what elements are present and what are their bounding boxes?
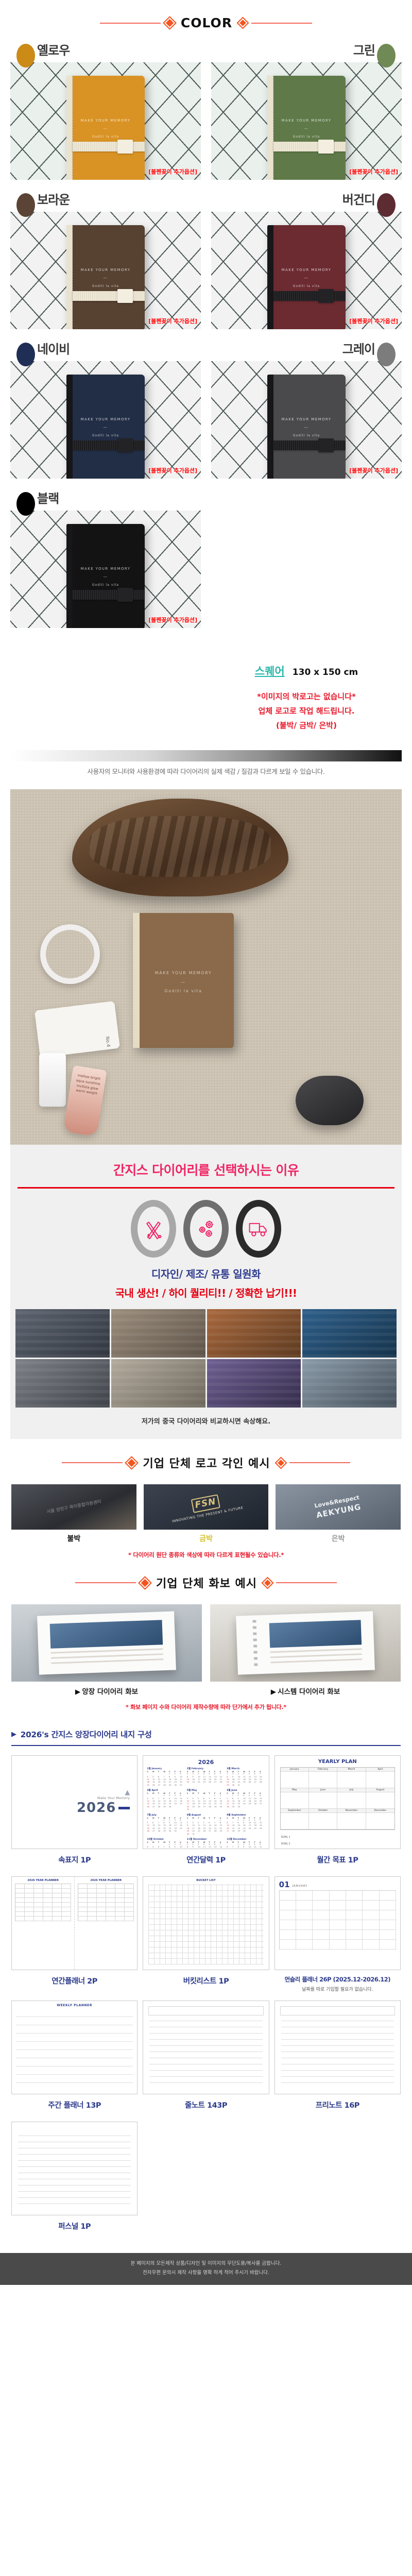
month-day-cell[interactable] bbox=[330, 1930, 346, 1940]
month-day-cell[interactable] bbox=[330, 1920, 346, 1930]
rule-right bbox=[276, 1582, 337, 1583]
brochure-section-header: 기업 단체 화보 예시 bbox=[0, 1559, 412, 1602]
color-cell[interactable]: 그린MAKE YOUR MEMORY—Goditi la vita[볼펜꽂이 추… bbox=[211, 45, 402, 180]
two-page-spread: 2026 YEAR PLANNER2026 YEAR PLANNER bbox=[12, 1877, 137, 1970]
planner-cell[interactable] bbox=[34, 1907, 43, 1912]
inner-page-preview[interactable]: YEARLY PLANJanuaryFebruaryMarchAprilMayJ… bbox=[274, 1755, 401, 1849]
planner-cell[interactable] bbox=[106, 1889, 115, 1893]
planner-cell[interactable] bbox=[53, 1907, 62, 1912]
reasons-section: 간지스 다이어리를 선택하시는 이유 bbox=[10, 1145, 402, 1439]
month-day-cell[interactable] bbox=[330, 1910, 346, 1920]
ruled-lines[interactable] bbox=[149, 2019, 262, 2089]
month-day-cell[interactable] bbox=[280, 1901, 296, 1910]
planner-cell[interactable] bbox=[62, 1889, 71, 1893]
product-detail-page: COLOR 옐로우MAKE YOUR MEMORY—Goditi la vita… bbox=[0, 0, 412, 2285]
color-name: 버건디 bbox=[342, 193, 375, 207]
month-day-cell[interactable] bbox=[330, 1901, 346, 1910]
month-day-cell[interactable] bbox=[296, 1920, 313, 1930]
planner-cell[interactable] bbox=[43, 1907, 53, 1912]
month-day-cell[interactable] bbox=[330, 1940, 346, 1950]
month-day-cell[interactable] bbox=[313, 1930, 329, 1940]
planner-cell[interactable] bbox=[78, 1907, 88, 1912]
inner-page-preview[interactable]: 01JANUARY bbox=[274, 1876, 401, 1970]
color-swatch bbox=[377, 193, 396, 217]
brochure-line bbox=[50, 1648, 163, 1654]
planner-cell[interactable] bbox=[53, 1917, 62, 1921]
planner-cell[interactable] bbox=[25, 1917, 34, 1921]
month-day-cell[interactable] bbox=[363, 1940, 379, 1950]
mini-days: 1234567891011121314151617181920212223242… bbox=[147, 1843, 185, 1849]
mini-month: 2월 FebruarySMTWTFS1234567891011121314151… bbox=[187, 1767, 225, 1787]
inner-page-preview[interactable] bbox=[143, 2001, 269, 2094]
logo-section-header: 기업 단체 로고 각인 예시 bbox=[0, 1439, 412, 1482]
planner-cell[interactable] bbox=[15, 1907, 25, 1912]
footer-line-1: 본 페이지의 모든제작 상품/디자인 및 이미지의 무단도용/복사를 금합니다. bbox=[0, 2259, 412, 2268]
week-row[interactable] bbox=[16, 2058, 133, 2066]
planner-cell[interactable] bbox=[78, 1889, 88, 1893]
planner-cell[interactable] bbox=[15, 1912, 25, 1917]
brochure-sheet bbox=[37, 1612, 176, 1675]
planner-cell[interactable] bbox=[78, 1917, 88, 1921]
white-pouch-object: No.4 bbox=[35, 1001, 120, 1058]
planner-cell[interactable] bbox=[106, 1903, 115, 1907]
planner-cell[interactable] bbox=[43, 1893, 53, 1898]
planner-cell[interactable] bbox=[78, 1903, 88, 1907]
planner-cell[interactable] bbox=[53, 1898, 62, 1903]
inner-page-caption: 연간플래너 2P bbox=[11, 1970, 138, 1994]
diary-cover: MAKE YOUR MEMORY—Goditi la vita bbox=[66, 524, 145, 628]
brochure-line bbox=[51, 1653, 163, 1659]
color-name: 그레이 bbox=[342, 343, 375, 356]
planner-cell[interactable] bbox=[34, 1912, 43, 1917]
planner-cell[interactable] bbox=[15, 1917, 25, 1921]
band-buckle bbox=[318, 438, 334, 452]
diary-cover: MAKE YOUR MEMORY—Goditi la vita bbox=[267, 76, 346, 180]
brochure-photo-bound bbox=[11, 1604, 202, 1682]
planner-cell[interactable] bbox=[88, 1903, 97, 1907]
month-day-cell[interactable] bbox=[296, 1940, 313, 1950]
mini-days: 1234567891011121314151617181920212223242… bbox=[147, 1794, 185, 1808]
month-day-cell[interactable] bbox=[280, 1910, 296, 1920]
planner-cell[interactable] bbox=[43, 1898, 53, 1903]
factory-photo-strip bbox=[10, 1309, 402, 1408]
month-day-cell[interactable] bbox=[363, 1930, 379, 1940]
rule-left bbox=[100, 23, 161, 24]
pen-holder-option-badge: [볼펜꽂이 추가옵션] bbox=[148, 167, 197, 176]
spec-square-label: 스퀘어 bbox=[255, 665, 285, 677]
inner-page-caption: 연간달력 1P bbox=[143, 1849, 269, 1873]
color-photo[interactable]: MAKE YOUR MEMORY—Goditi la vita[볼펜꽂이 추가옵… bbox=[10, 212, 201, 329]
diamond-left-icon bbox=[164, 18, 175, 28]
mini-month: 1월 JanuarySMTWTFS12345678910111213141516… bbox=[147, 1767, 185, 1787]
month-day-cell[interactable] bbox=[346, 1910, 363, 1920]
inner-page-preview[interactable]: BUCKET LIST bbox=[143, 1876, 269, 1970]
band-buckle bbox=[318, 140, 334, 154]
month-day-cell[interactable] bbox=[346, 1930, 363, 1940]
planner-cell[interactable] bbox=[125, 1889, 134, 1893]
brochure-line bbox=[51, 1659, 163, 1665]
yearplan-month-cell[interactable]: July bbox=[337, 1788, 366, 1809]
planner-cell[interactable] bbox=[53, 1889, 62, 1893]
color-cell[interactable]: 블랙MAKE YOUR MEMORY—Goditi la vita[볼펜꽂이 추… bbox=[10, 493, 201, 628]
week-row[interactable] bbox=[16, 2025, 133, 2033]
logo-mark-text: 서울 양천구 목아종합자원센터 bbox=[46, 1499, 101, 1514]
planner-cell[interactable] bbox=[62, 1912, 71, 1917]
week-row[interactable] bbox=[16, 2075, 133, 2083]
planner-cell[interactable] bbox=[125, 1884, 134, 1889]
yearplan-month-cell[interactable]: February bbox=[309, 1768, 337, 1788]
planner-cell[interactable] bbox=[43, 1912, 53, 1917]
month-day-cell[interactable] bbox=[296, 1901, 313, 1910]
yearplan-month-cell[interactable]: June bbox=[309, 1788, 337, 1809]
month-day-cell[interactable] bbox=[296, 1891, 313, 1901]
color-photo[interactable]: MAKE YOUR MEMORY—Goditi la vita[볼펜꽂이 추가옵… bbox=[10, 62, 201, 180]
inner-page-card: WEEKLY PLANNER주간 플래너 13P bbox=[11, 2001, 138, 2119]
reasons-icon-row bbox=[10, 1189, 402, 1261]
week-row[interactable] bbox=[16, 2050, 133, 2058]
month-day-cell[interactable] bbox=[380, 1920, 396, 1930]
planner-cell[interactable] bbox=[78, 1898, 88, 1903]
planner-cell[interactable] bbox=[43, 1903, 53, 1907]
yearplan-month-cell[interactable]: November bbox=[337, 1809, 366, 1829]
inner-page-preview[interactable] bbox=[274, 2001, 401, 2094]
planner-cell[interactable] bbox=[106, 1917, 115, 1921]
color-cell[interactable]: 버건디MAKE YOUR MEMORY—Goditi la vita[볼펜꽂이 … bbox=[211, 194, 402, 329]
color-section-header: COLOR bbox=[0, 0, 412, 42]
planner-cell[interactable] bbox=[15, 1884, 25, 1889]
inner-page-card: 2026 YEAR PLANNER2026 YEAR PLANNER연간플래너 … bbox=[11, 1876, 138, 1997]
planner-cell[interactable] bbox=[97, 1884, 106, 1889]
planner-cell[interactable] bbox=[106, 1898, 115, 1903]
planner-cell[interactable] bbox=[62, 1898, 71, 1903]
month-day-cell[interactable] bbox=[380, 1940, 396, 1950]
planner-cell[interactable] bbox=[62, 1907, 71, 1912]
planner-cell[interactable] bbox=[15, 1893, 25, 1898]
logo-sample-card: FSN INNOVATING THE PRESENT & FUTURE 금박 bbox=[144, 1484, 269, 1544]
yearplan-month-cell[interactable]: May bbox=[281, 1788, 309, 1809]
mini-days: 1234567891011121314151617181920212223242… bbox=[227, 1773, 265, 1787]
month-day-cell[interactable] bbox=[280, 1891, 296, 1901]
inner-page-preview[interactable]: 2026 YEAR PLANNER2026 YEAR PLANNER bbox=[11, 1876, 138, 1970]
planner-cell[interactable] bbox=[62, 1884, 71, 1889]
planner-cell[interactable] bbox=[125, 1903, 134, 1907]
month-day-cell[interactable] bbox=[280, 1920, 296, 1930]
planner-cell[interactable] bbox=[34, 1898, 43, 1903]
spec-note-3: (불박/ 금박/ 은박) bbox=[211, 719, 402, 733]
band-buckle bbox=[117, 588, 133, 602]
month-day-cell[interactable] bbox=[296, 1930, 313, 1940]
color-label-row: 옐로우 bbox=[10, 45, 201, 62]
planner-cell[interactable] bbox=[53, 1903, 62, 1907]
planner-cell[interactable] bbox=[106, 1893, 115, 1898]
inner-page-card: BUCKET LIST버킷리스트 1P bbox=[143, 1876, 269, 1997]
month-day-cell[interactable] bbox=[363, 1891, 379, 1901]
planner-cell[interactable] bbox=[88, 1889, 97, 1893]
mini-month: 8월 AugustSMTWTFS123456789101112131415161… bbox=[187, 1814, 225, 1836]
planner-cell[interactable] bbox=[88, 1893, 97, 1898]
color-swatch bbox=[16, 492, 35, 516]
inner-page-preview[interactable] bbox=[11, 2122, 138, 2215]
planner-cell[interactable] bbox=[34, 1917, 43, 1921]
planner-cell[interactable] bbox=[53, 1912, 62, 1917]
planner-cell[interactable] bbox=[88, 1898, 97, 1903]
diamond-left-icon bbox=[126, 1458, 137, 1468]
planner-cell[interactable] bbox=[115, 1893, 125, 1898]
month-day-cell[interactable] bbox=[280, 1930, 296, 1940]
factory-photo bbox=[207, 1309, 301, 1358]
planner-cell[interactable] bbox=[125, 1898, 134, 1903]
brochure-caption-bound: ▶앙장 다이어리 화보 bbox=[11, 1682, 202, 1696]
planner-cell[interactable] bbox=[25, 1889, 34, 1893]
logo-photo-silver-foil: Love&Respect AEKYUNG bbox=[276, 1484, 401, 1530]
reasons-line-1: 디자인/ 제조/ 유통 일원화 bbox=[10, 1261, 402, 1284]
planner-cell[interactable] bbox=[43, 1917, 53, 1921]
yearplan-month-label: September bbox=[281, 1809, 308, 1813]
week-row[interactable] bbox=[16, 2017, 133, 2025]
planner-cell[interactable] bbox=[62, 1903, 71, 1907]
inner-page-card: 프리노트 16P bbox=[274, 2001, 401, 2119]
color-cell[interactable]: 옐로우MAKE YOUR MEMORY—Goditi la vita[볼펜꽂이 … bbox=[10, 45, 201, 180]
month-number: 01 bbox=[279, 1880, 290, 1889]
planner-cell[interactable] bbox=[115, 1889, 125, 1893]
planner-cell[interactable] bbox=[125, 1907, 134, 1912]
brochure-section-title: 기업 단체 화보 예시 bbox=[154, 1574, 259, 1591]
planner-cell[interactable] bbox=[88, 1912, 97, 1917]
month-day-cell[interactable] bbox=[363, 1901, 379, 1910]
color-cell[interactable]: 네이비MAKE YOUR MEMORY—Goditi la vita[볼펜꽂이 … bbox=[10, 344, 201, 479]
personal-lines[interactable] bbox=[18, 2131, 131, 2210]
week-row[interactable] bbox=[16, 2033, 133, 2042]
planner-cell[interactable] bbox=[115, 1907, 125, 1912]
logo-sample-card: Love&Respect AEKYUNG 은박 bbox=[276, 1484, 401, 1544]
brochure-line bbox=[270, 1659, 362, 1664]
month-day-cell[interactable] bbox=[363, 1920, 379, 1930]
planner-cell[interactable] bbox=[78, 1893, 88, 1898]
yearplan-month-cell[interactable]: January bbox=[281, 1768, 309, 1788]
pen-holder-option-badge: [볼펜꽂이 추가옵션] bbox=[148, 616, 197, 624]
color-photo[interactable]: MAKE YOUR MEMORY—Goditi la vita[볼펜꽂이 추가옵… bbox=[211, 212, 402, 329]
planner-cell[interactable] bbox=[25, 1893, 34, 1898]
yearplan-month-cell[interactable]: October bbox=[309, 1809, 337, 1829]
month-day-cell[interactable] bbox=[313, 1910, 329, 1920]
cover-emboss: MAKE YOUR MEMORY—Goditi la vita bbox=[66, 117, 145, 141]
note-title-box[interactable] bbox=[148, 2006, 263, 2015]
diamond-left-icon bbox=[140, 1578, 150, 1588]
planner-cell[interactable] bbox=[62, 1917, 71, 1921]
inner-page-preview[interactable]: 20261월 JanuarySMTWTFS1234567891011121314… bbox=[143, 1755, 269, 1849]
inner-page-preview[interactable]: ▲Make Your Memory2026 bbox=[11, 1755, 138, 1849]
goal-2: GOAL 2 bbox=[281, 1841, 394, 1848]
week-row[interactable] bbox=[16, 2009, 133, 2017]
week-row[interactable] bbox=[16, 2066, 133, 2075]
planner-cell[interactable] bbox=[88, 1884, 97, 1889]
white-bottle-object bbox=[39, 1053, 66, 1107]
planner-cell[interactable] bbox=[115, 1898, 125, 1903]
planner-cell[interactable] bbox=[53, 1893, 62, 1898]
planner-cell[interactable] bbox=[43, 1889, 53, 1893]
planner-cell[interactable] bbox=[15, 1898, 25, 1903]
month-day-cell[interactable] bbox=[330, 1891, 346, 1901]
planner-cell[interactable] bbox=[115, 1917, 125, 1921]
planner-cell[interactable] bbox=[25, 1903, 34, 1907]
month-day-cell[interactable] bbox=[313, 1901, 329, 1910]
planner-cell[interactable] bbox=[43, 1884, 53, 1889]
rule-right bbox=[251, 23, 312, 24]
yearcal-grid: 1월 JanuarySMTWTFS12345678910111213141516… bbox=[143, 1767, 268, 1849]
planner-cell[interactable] bbox=[34, 1884, 43, 1889]
planner-cell[interactable] bbox=[25, 1912, 34, 1917]
inner-pages-header: ▶ 2026's 간지스 앙장다이어리 내지 구성 bbox=[0, 1711, 412, 1742]
planner-cell[interactable] bbox=[34, 1889, 43, 1893]
factory-photo bbox=[15, 1359, 110, 1408]
yearplanner-title: 2026 YEAR PLANNER bbox=[75, 1877, 137, 1884]
diary-product-object: MAKE YOUR MEMORY — Goditi la vita bbox=[133, 913, 234, 1048]
yearplan-grid: JanuaryFebruaryMarchAprilMayJuneJulyAugu… bbox=[280, 1767, 395, 1830]
color-name: 옐로우 bbox=[37, 44, 70, 57]
yearplan-month-label: October bbox=[309, 1809, 337, 1813]
yearplan-goals: GOAL 1GOAL 2 bbox=[275, 1830, 400, 1848]
yearplan-month-cell[interactable]: April bbox=[366, 1768, 394, 1788]
earphone-cable-object bbox=[40, 924, 100, 984]
planner-table bbox=[15, 1884, 71, 1921]
mini-month-label: 4월 April bbox=[147, 1789, 185, 1792]
planner-cell[interactable] bbox=[97, 1917, 106, 1921]
planner-cell[interactable] bbox=[125, 1893, 134, 1898]
yearplan-month-cell[interactable]: August bbox=[366, 1788, 394, 1809]
planner-cell[interactable] bbox=[78, 1884, 88, 1889]
monitor-disclaimer: 사용자의 모니터와 사용환경에 따라 다이어리의 실제 색감 / 질감과 다르게… bbox=[0, 761, 412, 776]
mini-month-label: 3월 March bbox=[227, 1767, 265, 1770]
color-cell[interactable]: 보라운MAKE YOUR MEMORY—Goditi la vita[볼펜꽂이 … bbox=[10, 194, 201, 329]
pen-holder-option-badge: [볼펜꽂이 추가옵션] bbox=[349, 317, 398, 325]
weekly-title: WEEKLY PLANNER bbox=[12, 2001, 137, 2009]
planner-cell[interactable] bbox=[88, 1907, 97, 1912]
yearplan-month-label: January bbox=[281, 1768, 308, 1772]
inner-page-caption: 퍼스널 1P bbox=[11, 2215, 138, 2240]
color-photo[interactable]: MAKE YOUR MEMORY—Goditi la vita[볼펜꽂이 추가옵… bbox=[10, 361, 201, 479]
mini-days: 1234567891011121314151617181920212223242… bbox=[147, 1819, 185, 1833]
week-row[interactable] bbox=[16, 2042, 133, 2050]
planner-cell[interactable] bbox=[97, 1903, 106, 1907]
month-day-cell[interactable] bbox=[346, 1920, 363, 1930]
planner-cell[interactable] bbox=[97, 1912, 106, 1917]
month-day-cell[interactable] bbox=[363, 1910, 379, 1920]
planner-cell[interactable] bbox=[115, 1912, 125, 1917]
planner-cell[interactable] bbox=[25, 1907, 34, 1912]
mini-month: 6월 JuneSMTWTFS12345678910111213141516171… bbox=[227, 1789, 265, 1811]
ruled-lines[interactable] bbox=[281, 2019, 394, 2089]
color-cell[interactable]: 그레이MAKE YOUR MEMORY—Goditi la vita[볼펜꽂이 … bbox=[211, 344, 402, 479]
mini-month-label: 10월 October bbox=[147, 1838, 185, 1841]
color-photo[interactable]: MAKE YOUR MEMORY—Goditi la vita[볼펜꽂이 추가옵… bbox=[211, 62, 402, 180]
planner-cell[interactable] bbox=[125, 1917, 134, 1921]
planner-cell[interactable] bbox=[25, 1884, 34, 1889]
month-day-cell[interactable] bbox=[346, 1940, 363, 1950]
month-day-cell[interactable] bbox=[313, 1920, 329, 1930]
month-day-cell[interactable] bbox=[380, 1910, 396, 1920]
planner-cell[interactable] bbox=[106, 1912, 115, 1917]
earbud-case-object bbox=[296, 1076, 364, 1125]
color-name: 네이비 bbox=[37, 343, 70, 356]
gradient-divider bbox=[10, 750, 402, 761]
color-swatch bbox=[16, 343, 35, 366]
planner-cell[interactable] bbox=[97, 1889, 106, 1893]
month-day-cell[interactable] bbox=[380, 1891, 396, 1901]
planner-cell[interactable] bbox=[62, 1893, 71, 1898]
planner-cell[interactable] bbox=[125, 1912, 134, 1917]
pen-holder-option-badge: [볼펜꽂이 추가옵션] bbox=[148, 317, 197, 325]
inner-page-preview[interactable]: WEEKLY PLANNER bbox=[11, 2001, 138, 2094]
month-day-cell[interactable] bbox=[380, 1930, 396, 1940]
yearplan-title: YEARLY PLAN bbox=[275, 1756, 400, 1767]
reasons-footnote: 저가의 중국 다이어리와 비교하시면 속상해요. bbox=[10, 1408, 402, 1439]
planner-cell[interactable] bbox=[53, 1884, 62, 1889]
planner-cell[interactable] bbox=[34, 1893, 43, 1898]
factory-photo bbox=[111, 1309, 205, 1358]
planner-cell[interactable] bbox=[78, 1912, 88, 1917]
mini-month: 10월 OctoberSMTWTFS1234567891011121314151… bbox=[147, 1838, 185, 1849]
month-day-cell[interactable] bbox=[280, 1940, 296, 1950]
diamond-right-icon bbox=[238, 18, 247, 27]
brochure-card: ▶앙장 다이어리 화보 bbox=[11, 1604, 202, 1696]
diamond-right-icon bbox=[276, 1458, 285, 1467]
planner-cell[interactable] bbox=[97, 1893, 106, 1898]
planner-cell[interactable] bbox=[97, 1898, 106, 1903]
color-photo[interactable]: MAKE YOUR MEMORY—Goditi la vita[볼펜꽂이 추가옵… bbox=[211, 361, 402, 479]
month-day-cell[interactable] bbox=[313, 1891, 329, 1901]
gears-manufacture-icon bbox=[183, 1200, 229, 1258]
month-day-cell[interactable] bbox=[346, 1891, 363, 1901]
logo-photo-black-foil: 서울 양천구 목아종합자원센터 bbox=[11, 1484, 136, 1530]
planner-cell[interactable] bbox=[97, 1907, 106, 1912]
month-day-cell[interactable] bbox=[346, 1901, 363, 1910]
planner-cell[interactable] bbox=[88, 1917, 97, 1921]
color-label-row: 버건디 bbox=[211, 194, 402, 212]
planner-cell[interactable] bbox=[115, 1884, 125, 1889]
cover-emboss: MAKE YOUR MEMORY—Goditi la vita bbox=[267, 117, 346, 141]
planner-cell[interactable] bbox=[106, 1907, 115, 1912]
planner-half: 2026 YEAR PLANNER bbox=[12, 1877, 75, 1970]
planner-cell[interactable] bbox=[34, 1903, 43, 1907]
inner-page-caption: 속표지 1P bbox=[11, 1849, 138, 1873]
planner-cell[interactable] bbox=[106, 1884, 115, 1889]
mini-days: 1234567891011121314151617181920212223242… bbox=[187, 1843, 225, 1849]
planner-cell[interactable] bbox=[15, 1903, 25, 1907]
bucket-grid[interactable] bbox=[148, 1884, 263, 1964]
diary-cover: MAKE YOUR MEMORY—Goditi la vita bbox=[66, 76, 145, 180]
planner-cell[interactable] bbox=[115, 1903, 125, 1907]
yearplan-month-cell[interactable]: September bbox=[281, 1809, 309, 1829]
color-photo[interactable]: MAKE YOUR MEMORY—Goditi la vita[볼펜꽂이 추가옵… bbox=[10, 511, 201, 628]
logo-caption-black: 불박 bbox=[11, 1530, 136, 1544]
yearplan-month-cell[interactable]: December bbox=[366, 1809, 394, 1829]
planner-cell[interactable] bbox=[25, 1898, 34, 1903]
band-buckle bbox=[117, 438, 133, 452]
month-day-cell[interactable] bbox=[380, 1901, 396, 1910]
month-day-cell[interactable] bbox=[313, 1940, 329, 1950]
month-day-cell[interactable] bbox=[296, 1910, 313, 1920]
inner-page-caption-sub: 날짜를 따로 기입할 필요가 없습니다. bbox=[274, 1986, 401, 1997]
yearcal-title: 2026 bbox=[143, 1756, 268, 1767]
note-title-box[interactable] bbox=[280, 2006, 395, 2015]
monthly-grid bbox=[279, 1890, 396, 1950]
color-swatch bbox=[16, 44, 35, 67]
yearplan-month-cell[interactable]: March bbox=[337, 1768, 366, 1788]
yearplan-month-label: August bbox=[366, 1788, 394, 1792]
mini-days: 1234567891011121314151617181920212223242… bbox=[227, 1794, 265, 1808]
planner-cell[interactable] bbox=[15, 1889, 25, 1893]
page-footer: 본 페이지의 모든제작 상품/디자인 및 이미지의 무단도용/복사를 금합니다.… bbox=[0, 2253, 412, 2285]
